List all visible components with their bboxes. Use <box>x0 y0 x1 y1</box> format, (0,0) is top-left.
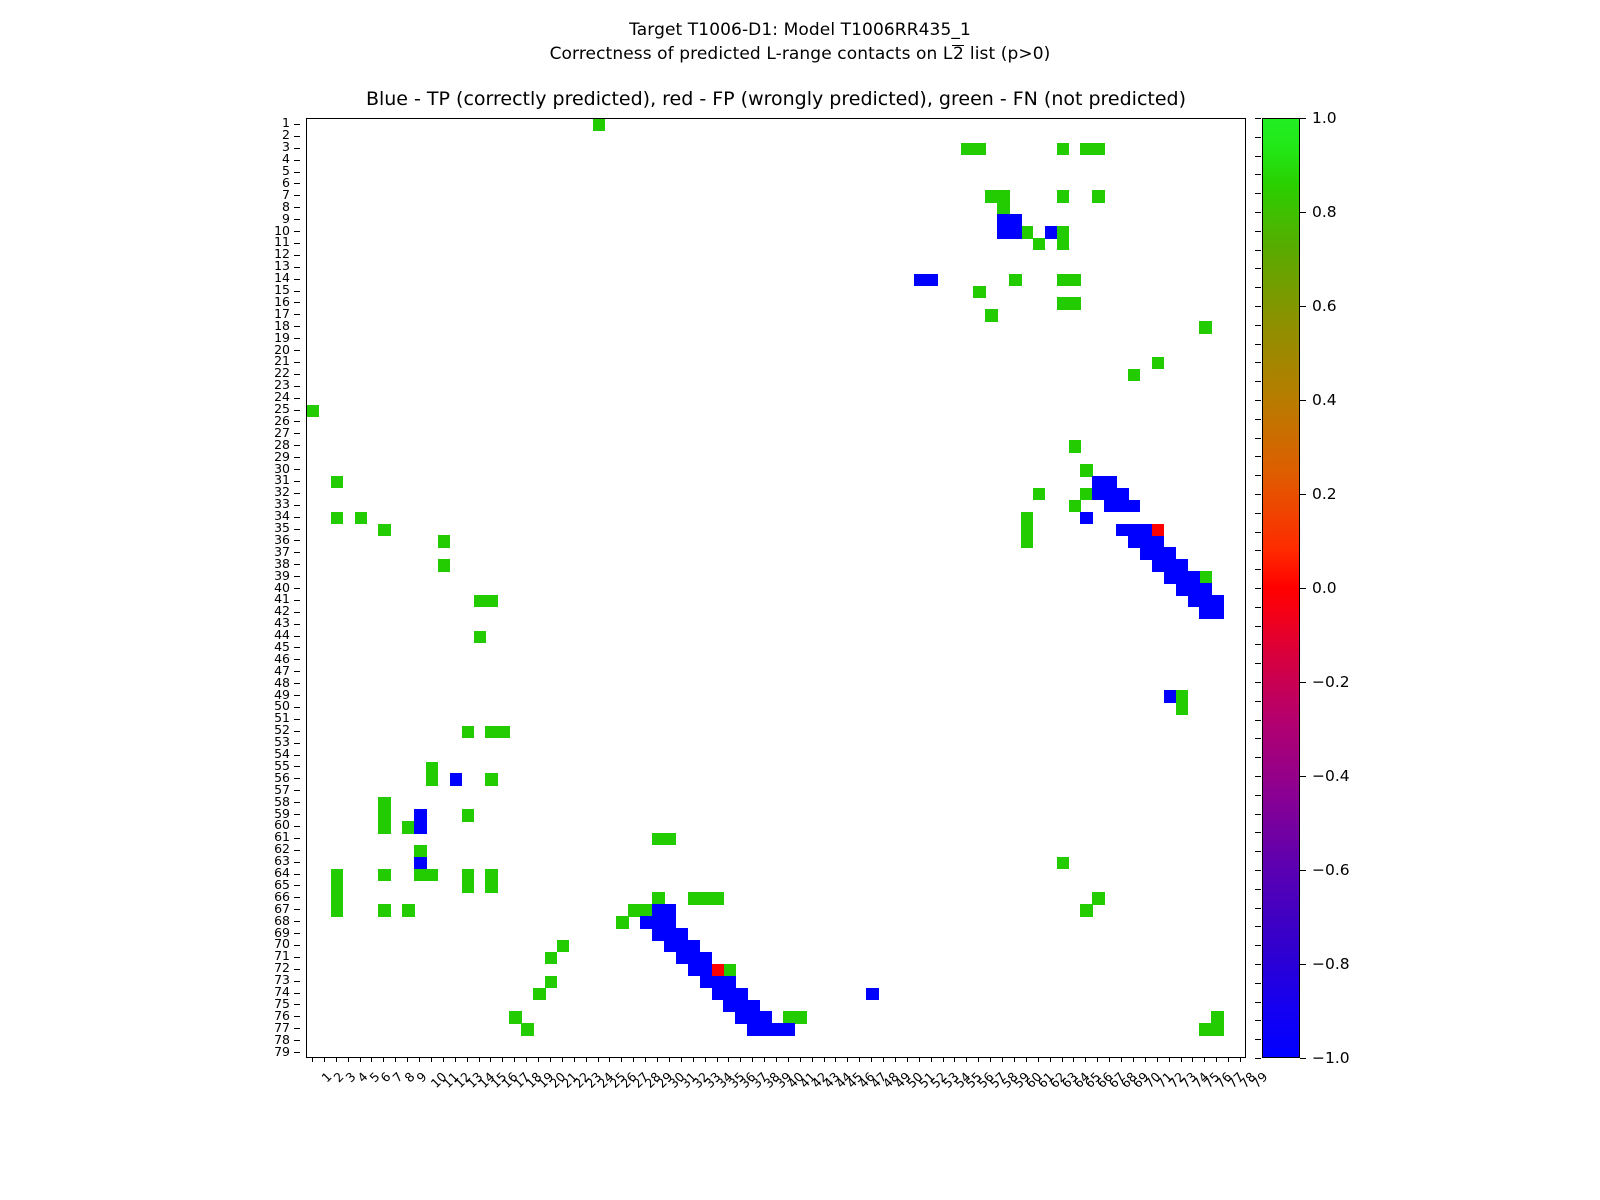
x-tick-mark <box>1073 1057 1074 1062</box>
contact-cell-tp <box>723 976 735 988</box>
title-line-2-fraction: 2 <box>952 45 964 63</box>
y-tick-mark <box>294 326 300 327</box>
x-tick-mark <box>1192 1057 1193 1062</box>
contact-cell-fn <box>1069 297 1081 309</box>
contact-cell-fn <box>985 190 997 202</box>
contact-cell-fn <box>616 916 628 928</box>
y-tick-mark <box>294 1016 300 1017</box>
contact-cell-fn <box>1080 143 1092 155</box>
contact-cell-tp <box>1188 595 1200 607</box>
contact-cell-fn <box>378 821 390 833</box>
colorbar-tick-label: 0.6 <box>1312 297 1337 315</box>
contact-cell-fn <box>1069 500 1081 512</box>
y-tick-mark <box>294 374 300 375</box>
y-tick-mark <box>294 255 300 256</box>
contact-cell-tp <box>664 916 676 928</box>
contact-cell-fn <box>1211 1023 1223 1035</box>
contact-cell-tp <box>688 964 700 976</box>
colorbar-minor-tick <box>1255 738 1261 739</box>
contact-cell-fn <box>485 773 497 785</box>
y-tick-mark <box>294 814 300 815</box>
contact-cell-tp <box>1116 524 1128 536</box>
contact-cell-tp <box>712 988 724 1000</box>
x-tick-mark <box>609 1057 610 1062</box>
x-axis-labels: 1234567891011121314151617181920212223242… <box>306 1063 1246 1183</box>
contact-cell-tp <box>1199 583 1211 595</box>
x-tick-mark <box>990 1057 991 1062</box>
contact-cell-fn <box>652 892 664 904</box>
x-tick-mark <box>1121 1057 1122 1062</box>
colorbar-minor-tick <box>1255 626 1261 627</box>
contact-cell-fn <box>331 512 343 524</box>
y-tick-mark <box>294 195 300 196</box>
contact-cell-tp <box>664 928 676 940</box>
contact-cell-fn <box>497 726 509 738</box>
y-tick-mark <box>294 148 300 149</box>
contact-cell-fn <box>593 119 605 131</box>
y-axis-labels: 1234567891011121314151617181920212223242… <box>236 118 300 1058</box>
contact-cell-fn <box>426 869 438 881</box>
y-tick-mark <box>294 505 300 506</box>
x-tick-mark <box>443 1057 444 1062</box>
colorbar-minor-tick <box>1255 344 1261 345</box>
x-tick-mark <box>598 1057 599 1062</box>
x-tick-mark <box>586 1057 587 1062</box>
contact-cell-tp <box>1176 583 1188 595</box>
y-tick-mark <box>294 647 300 648</box>
contact-cell-tp <box>747 1000 759 1012</box>
x-tick-mark <box>550 1057 551 1062</box>
x-tick-mark <box>395 1057 396 1062</box>
colorbar-minor-tick <box>1255 156 1261 157</box>
y-tick-mark <box>294 160 300 161</box>
x-tick-mark <box>360 1057 361 1062</box>
contact-cell-fn <box>307 405 319 417</box>
colorbar-tick-mark <box>1300 588 1306 589</box>
colorbar-tick-mark <box>1300 306 1306 307</box>
contact-cell-fn <box>378 904 390 916</box>
contact-cell-tp <box>783 1023 795 1035</box>
colorbar-minor-tick <box>1255 1020 1261 1021</box>
contact-cell-fn <box>723 964 735 976</box>
colorbar-minor-tick <box>1255 287 1261 288</box>
colorbar-minor-tick <box>1255 682 1261 683</box>
contact-cell-tp <box>1140 547 1152 559</box>
y-tick-mark <box>294 469 300 470</box>
colorbar-minor-tick <box>1255 193 1261 194</box>
y-tick-mark <box>294 933 300 934</box>
contact-cell-fn <box>1080 904 1092 916</box>
x-tick-mark <box>835 1057 836 1062</box>
contact-cell-fn <box>533 988 545 1000</box>
x-tick-mark <box>1014 1057 1015 1062</box>
contact-cell-tp <box>759 1011 771 1023</box>
contact-map-plot-area[interactable] <box>306 118 1246 1058</box>
x-tick-mark <box>562 1057 563 1062</box>
colorbar-minor-tick <box>1255 776 1261 777</box>
colorbar-minor-tick <box>1255 212 1261 213</box>
contact-cell-fn <box>474 631 486 643</box>
contact-cell-fn <box>973 286 985 298</box>
y-tick-mark <box>294 457 300 458</box>
contact-cell-tp <box>1164 690 1176 702</box>
title-line-2: Correctness of predicted L-range contact… <box>0 42 1600 66</box>
y-tick-mark <box>294 183 300 184</box>
x-tick-mark <box>943 1057 944 1062</box>
contact-cell-tp <box>1128 500 1140 512</box>
y-tick-mark <box>294 885 300 886</box>
contact-cell-tp <box>723 1000 735 1012</box>
contact-cell-tp <box>414 821 426 833</box>
contact-cell-fn <box>378 869 390 881</box>
x-tick-mark <box>776 1057 777 1062</box>
contact-cell-fn <box>545 952 557 964</box>
contact-cell-fn <box>438 535 450 547</box>
contact-cell-tp <box>1140 535 1152 547</box>
x-tick-mark <box>1109 1057 1110 1062</box>
y-tick-mark <box>294 529 300 530</box>
legend-subtitle: Blue - TP (correctly predicted), red - F… <box>306 88 1246 110</box>
colorbar-minor-tick <box>1255 475 1261 476</box>
x-tick-mark <box>681 1057 682 1062</box>
x-tick-mark <box>954 1057 955 1062</box>
contact-cell-tp <box>997 214 1009 226</box>
x-tick-mark <box>324 1057 325 1062</box>
x-tick-mark <box>407 1057 408 1062</box>
colorbar-tick-label: 0.2 <box>1312 485 1337 503</box>
x-tick-mark <box>348 1057 349 1062</box>
title-line-2-prefix: Correctness of predicted L-range contact… <box>550 44 953 64</box>
colorbar-tick-mark <box>1300 118 1306 119</box>
x-tick-mark <box>752 1057 753 1062</box>
y-tick-mark <box>294 659 300 660</box>
contact-cell-fn <box>1080 464 1092 476</box>
contact-cell-fn <box>783 1011 795 1023</box>
colorbar-minor-tick <box>1255 851 1261 852</box>
contact-cell-tp <box>1128 535 1140 547</box>
contact-cell-tp <box>1092 488 1104 500</box>
y-tick-mark <box>294 517 300 518</box>
contact-cell-fn <box>1211 1011 1223 1023</box>
colorbar-tick-mark <box>1300 400 1306 401</box>
x-tick-mark <box>336 1057 337 1062</box>
x-tick-mark <box>895 1057 896 1062</box>
contact-cell-fn <box>1080 488 1092 500</box>
contact-cell-fn <box>331 904 343 916</box>
contact-cell-fn <box>557 940 569 952</box>
y-tick-mark <box>294 874 300 875</box>
contact-cell-fn <box>462 726 474 738</box>
x-tick-label: 9 <box>413 1069 429 1085</box>
colorbar-tick-label: −0.6 <box>1312 861 1350 879</box>
contact-cell-tp <box>1092 476 1104 488</box>
contact-cell-tp <box>1176 571 1188 583</box>
y-tick-mark <box>294 790 300 791</box>
contact-cell-fn <box>1021 535 1033 547</box>
contact-map-figure: Target T1006-D1: Model T1006RR435_1 Corr… <box>0 0 1600 1200</box>
x-tick-mark <box>1050 1057 1051 1062</box>
colorbar-tick-label: −1.0 <box>1312 1049 1350 1067</box>
x-tick-mark <box>1026 1057 1027 1062</box>
x-tick-mark <box>431 1057 432 1062</box>
contact-cell-tp <box>926 274 938 286</box>
contact-cell-tp <box>1104 500 1116 512</box>
contact-cell-fn <box>712 892 724 904</box>
x-tick-mark <box>728 1057 729 1062</box>
contact-cell-fn <box>521 1023 533 1035</box>
x-tick-mark <box>657 1057 658 1062</box>
contact-cell-fn <box>378 809 390 821</box>
contact-cell-fn <box>331 892 343 904</box>
contact-cell-tp <box>1188 571 1200 583</box>
contact-cell-tp <box>652 916 664 928</box>
x-tick-mark <box>502 1057 503 1062</box>
contact-cell-fn <box>1057 238 1069 250</box>
x-tick-mark <box>1145 1057 1146 1062</box>
contact-cell-tp <box>1211 607 1223 619</box>
contact-cell-fn <box>1057 857 1069 869</box>
contact-cell-fn <box>985 309 997 321</box>
contact-cell-fp <box>712 964 724 976</box>
colorbar-minor-tick <box>1255 926 1261 927</box>
y-tick-mark <box>294 421 300 422</box>
colorbar-minor-tick <box>1255 325 1261 326</box>
y-tick-mark <box>294 136 300 137</box>
y-tick-mark <box>294 981 300 982</box>
y-tick-mark <box>294 588 300 589</box>
y-tick-mark <box>294 362 300 363</box>
contact-cell-fn <box>426 762 438 774</box>
y-tick-mark <box>294 731 300 732</box>
contact-cell-tp <box>1152 559 1164 571</box>
colorbar-minor-tick <box>1255 588 1261 589</box>
contact-cell-tp <box>1152 547 1164 559</box>
contact-cell-tp <box>1211 595 1223 607</box>
contact-cell-fn <box>402 821 414 833</box>
y-tick-mark <box>294 493 300 494</box>
contact-cell-fn <box>1057 143 1069 155</box>
contact-cell-tp <box>747 1011 759 1023</box>
contact-cell-fn <box>1092 143 1104 155</box>
y-tick-mark <box>294 969 300 970</box>
x-tick-mark <box>538 1057 539 1062</box>
contact-cells-layer <box>307 119 1245 1057</box>
colorbar-minor-tick <box>1255 550 1261 551</box>
colorbar-tick-label: 0.0 <box>1312 579 1337 597</box>
contact-cell-tp <box>688 952 700 964</box>
contact-cell-tp <box>1199 595 1211 607</box>
x-tick-mark <box>919 1057 920 1062</box>
contact-cell-tp <box>450 773 462 785</box>
x-tick-mark <box>717 1057 718 1062</box>
x-tick-mark <box>419 1057 420 1062</box>
x-tick-mark <box>1062 1057 1063 1062</box>
y-tick-mark <box>294 410 300 411</box>
contact-cell-fn <box>688 892 700 904</box>
contact-cell-tp <box>735 988 747 1000</box>
y-tick-mark <box>294 231 300 232</box>
y-tick-mark <box>294 350 300 351</box>
y-tick-mark <box>294 279 300 280</box>
x-tick-mark <box>371 1057 372 1062</box>
contact-cell-tp <box>1104 488 1116 500</box>
contact-cell-fn <box>426 773 438 785</box>
contact-cell-tp <box>997 226 1009 238</box>
contact-cell-fn <box>1092 190 1104 202</box>
contact-cell-tp <box>664 904 676 916</box>
colorbar-minor-tick <box>1255 757 1261 758</box>
y-tick-mark <box>294 172 300 173</box>
y-tick-mark <box>294 576 300 577</box>
colorbar-minor-tick <box>1255 908 1261 909</box>
contact-cell-tp <box>1104 476 1116 488</box>
contact-cell-fn <box>378 797 390 809</box>
contact-cell-fn <box>1021 226 1033 238</box>
colorbar-minor-tick <box>1255 870 1261 871</box>
x-tick-mark <box>479 1057 480 1062</box>
contact-cell-fn <box>1199 571 1211 583</box>
colorbar-minor-tick <box>1255 814 1261 815</box>
y-tick-mark <box>294 743 300 744</box>
contact-cell-tp <box>664 940 676 952</box>
y-tick-mark <box>294 243 300 244</box>
y-tick-mark <box>294 624 300 625</box>
x-tick-mark <box>1133 1057 1134 1062</box>
y-tick-mark <box>294 707 300 708</box>
y-tick-mark <box>294 683 300 684</box>
y-tick-mark <box>294 386 300 387</box>
x-tick-mark <box>1097 1057 1098 1062</box>
contact-cell-fn <box>1128 369 1140 381</box>
contact-cell-tp <box>1116 488 1128 500</box>
x-tick-mark <box>907 1057 908 1062</box>
colorbar-minor-tick <box>1255 174 1261 175</box>
contact-cell-tp <box>1045 226 1057 238</box>
contact-cell-fn <box>1199 1023 1211 1035</box>
contact-cell-tp <box>700 976 712 988</box>
contact-cell-fn <box>438 559 450 571</box>
contact-cell-fn <box>1057 297 1069 309</box>
contact-cell-fn <box>961 143 973 155</box>
contact-cell-fn <box>640 904 652 916</box>
contact-cell-tp <box>652 928 664 940</box>
contact-cell-fn <box>997 202 1009 214</box>
contact-cell-fn <box>485 869 497 881</box>
contact-cell-fn <box>462 869 474 881</box>
colorbar-minor-tick <box>1255 231 1261 232</box>
x-tick-mark <box>669 1057 670 1062</box>
colorbar-minor-tick <box>1255 795 1261 796</box>
contact-cell-tp <box>1188 583 1200 595</box>
y-tick-mark <box>294 695 300 696</box>
x-tick-mark <box>526 1057 527 1062</box>
x-tick-mark <box>645 1057 646 1062</box>
contact-cell-fn <box>462 881 474 893</box>
colorbar-minor-tick <box>1255 400 1261 401</box>
contact-cell-tp <box>1199 607 1211 619</box>
contact-cell-tp <box>676 952 688 964</box>
colorbar-tick-label: −0.8 <box>1312 955 1350 973</box>
y-tick-mark <box>294 1052 300 1053</box>
colorbar-minor-tick <box>1255 663 1261 664</box>
y-tick-mark <box>294 671 300 672</box>
y-tick-mark <box>294 398 300 399</box>
x-tick-mark <box>824 1057 825 1062</box>
colorbar-minor-tick <box>1255 438 1261 439</box>
colorbar-tick-label: 1.0 <box>1312 109 1337 127</box>
y-tick-mark <box>294 291 300 292</box>
y-tick-mark <box>294 314 300 315</box>
contact-cell-fn <box>997 190 1009 202</box>
contact-cell-fn <box>973 143 985 155</box>
y-tick-mark <box>294 338 300 339</box>
contact-cell-fn <box>1176 690 1188 702</box>
colorbar-tick-mark <box>1300 1058 1306 1059</box>
contact-cell-tp <box>414 857 426 869</box>
contact-cell-fn <box>485 726 497 738</box>
colorbar-tick-label: −0.2 <box>1312 673 1350 691</box>
colorbar-minor-tick <box>1255 513 1261 514</box>
y-tick-mark <box>294 945 300 946</box>
colorbar-minor-tick <box>1255 889 1261 890</box>
y-tick-mark <box>294 219 300 220</box>
colorbar-minor-tick <box>1255 494 1261 495</box>
colorbar-minor-tick <box>1255 964 1261 965</box>
contact-cell-fn <box>1009 274 1021 286</box>
y-tick-mark <box>294 612 300 613</box>
contact-cell-fn <box>652 833 664 845</box>
contact-cell-tp <box>914 274 926 286</box>
x-tick-mark <box>966 1057 967 1062</box>
contact-cell-tp <box>688 940 700 952</box>
x-tick-mark <box>800 1057 801 1062</box>
x-tick-mark <box>871 1057 872 1062</box>
y-tick-mark <box>294 433 300 434</box>
x-tick-mark <box>978 1057 979 1062</box>
y-tick-mark <box>294 957 300 958</box>
x-tick-mark <box>1085 1057 1086 1062</box>
y-tick-mark <box>294 540 300 541</box>
x-tick-mark <box>705 1057 706 1062</box>
y-tick-label: 79 <box>274 1046 290 1058</box>
y-tick-mark <box>294 719 300 720</box>
x-tick-mark <box>847 1057 848 1062</box>
contact-cell-fn <box>414 845 426 857</box>
colorbar-tick-mark <box>1300 494 1306 495</box>
x-tick-mark <box>931 1057 932 1062</box>
colorbar-minor-tick <box>1255 607 1261 608</box>
contact-cell-fn <box>1176 702 1188 714</box>
colorbar-minor-tick <box>1255 945 1261 946</box>
x-tick-mark <box>633 1057 634 1062</box>
contact-cell-fn <box>1057 190 1069 202</box>
colorbar-tick-label: 0.4 <box>1312 391 1337 409</box>
x-tick-mark <box>788 1057 789 1062</box>
x-tick-mark <box>383 1057 384 1062</box>
contact-cell-fn <box>1152 357 1164 369</box>
contact-cell-fn <box>331 869 343 881</box>
x-tick-mark <box>883 1057 884 1062</box>
contact-cell-tp <box>723 988 735 1000</box>
colorbar-minor-tick <box>1255 569 1261 570</box>
y-tick-mark <box>294 850 300 851</box>
colorbar-minor-tick <box>1255 118 1261 119</box>
contact-cell-tp <box>1009 226 1021 238</box>
x-tick-mark <box>1240 1057 1241 1062</box>
contact-cell-fn <box>331 881 343 893</box>
contact-cell-tp <box>640 916 652 928</box>
y-tick-mark <box>294 636 300 637</box>
